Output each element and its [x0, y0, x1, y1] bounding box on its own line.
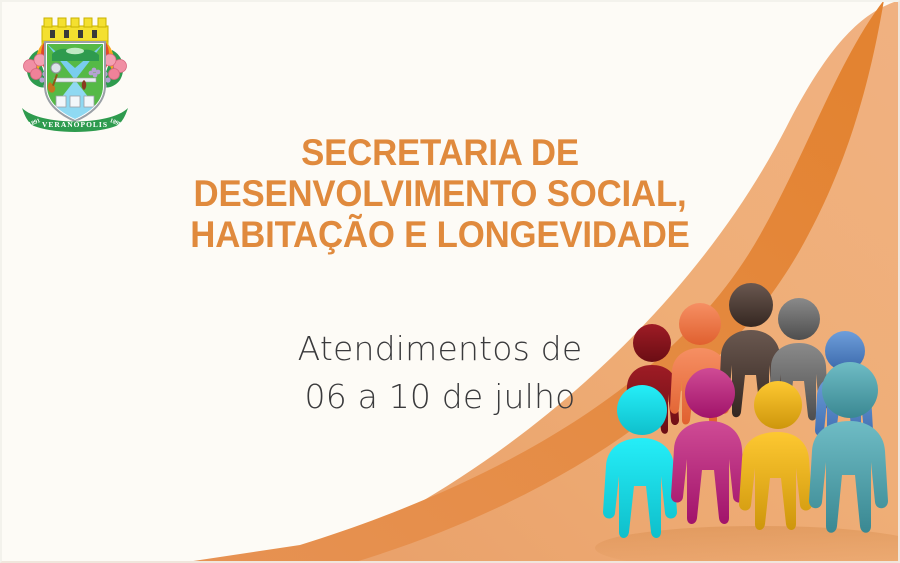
figure-amber	[739, 381, 812, 530]
coat-of-arms-icon: 1891 VERANÓPOLIS 1898	[14, 8, 136, 134]
crest-shield	[45, 42, 105, 121]
title-line-1: SECRETARIA DE	[130, 132, 750, 173]
slide-canvas: 1891 VERANÓPOLIS 1898 SECRETARIA DE DESE…	[0, 0, 900, 563]
title-line-3: HABITAÇÃO E LONGEVIDADE	[130, 214, 750, 255]
figure-cyan	[603, 385, 677, 538]
page-title: SECRETARIA DE DESENVOLVIMENTO SOCIAL, HA…	[110, 132, 770, 255]
people-group-illustration	[600, 280, 900, 563]
title-line-2: DESENVOLVIMENTO SOCIAL,	[130, 173, 750, 214]
crest-banner-municipality: VERANÓPOLIS	[42, 119, 108, 129]
